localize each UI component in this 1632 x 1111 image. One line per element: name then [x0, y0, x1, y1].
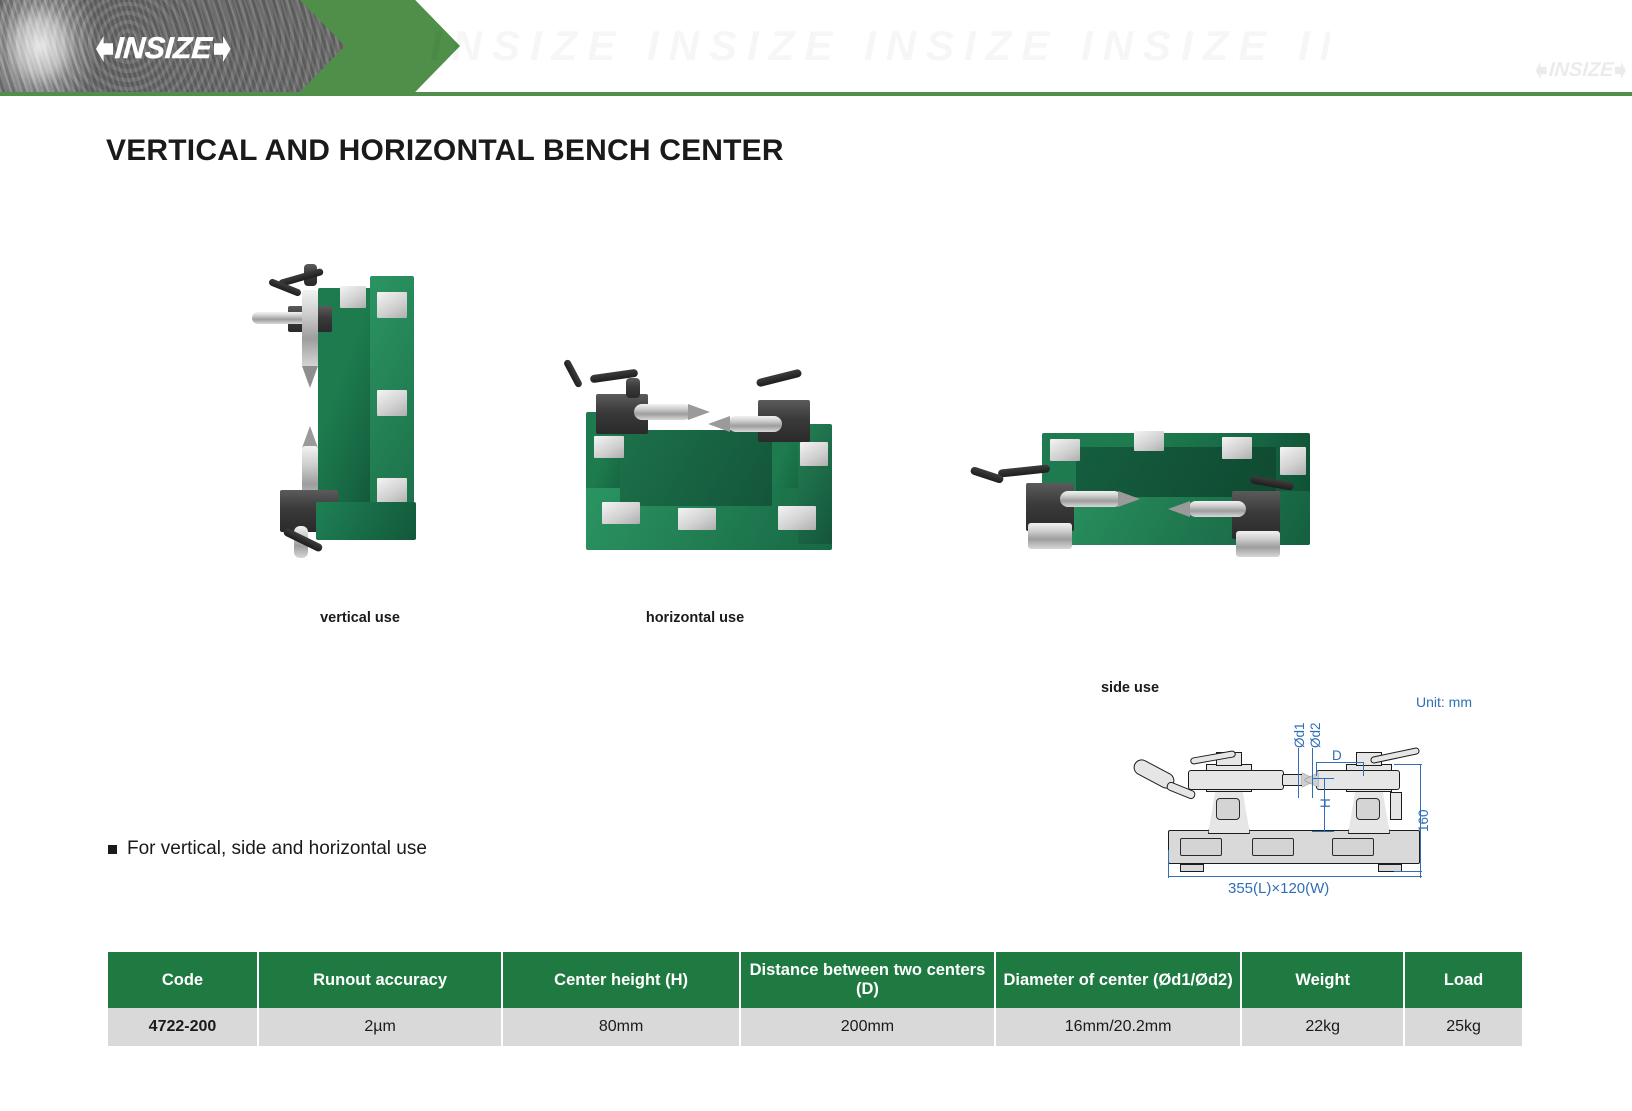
- product-photo-side: side use: [950, 395, 1310, 595]
- bullet-square-icon: [108, 845, 117, 854]
- cell-runout-accuracy: 2µm: [258, 1008, 502, 1046]
- page-title: VERTICAL AND HORIZONTAL BENCH CENTER: [106, 134, 784, 168]
- header-watermark-text: INSIZE INSIZE INSIZE INSIZE INSIZE INSIZ…: [430, 22, 1330, 74]
- insize-logo: INSIZE: [96, 36, 231, 62]
- column-header-runout: Runout accuracy: [258, 952, 502, 1008]
- dim-tick-footprint-left: [1168, 850, 1169, 878]
- drawing-base-slot-2: [1252, 838, 1294, 856]
- arrow-left-icon-faint: [1536, 62, 1547, 79]
- drawing-right-window: [1356, 798, 1380, 820]
- product-caption-horizontal: horizontal use: [530, 610, 860, 626]
- drawing-foot-left: [1180, 864, 1204, 872]
- table-row: 4722-200 2µm 80mm 200mm 16mm/20.2mm 22kg…: [108, 1008, 1522, 1046]
- right-lever: [756, 369, 803, 388]
- arrow-left-icon: [96, 36, 113, 62]
- inlay-face-s2: [1134, 431, 1164, 451]
- left-lever-loop: [563, 359, 583, 389]
- inlay-face-s3: [1222, 437, 1252, 459]
- dim-label-d: D: [1332, 748, 1342, 763]
- specification-table: Code Runout accuracy Center height (H) D…: [108, 952, 1522, 1046]
- drawing-right-side-tab: [1390, 792, 1402, 820]
- drawing-left-window: [1216, 798, 1240, 820]
- table-header-row: Code Runout accuracy Center height (H) D…: [108, 952, 1522, 1008]
- cell-diameter-of-center: 16mm/20.2mm: [995, 1008, 1241, 1046]
- side-left-lever-loop: [970, 466, 1005, 484]
- green-base: [316, 502, 416, 540]
- column-header-center-height: Center height (H): [502, 952, 740, 1008]
- dim-label-footprint: 355(L)×120(W): [1228, 880, 1329, 897]
- inlay-face-right: [800, 442, 828, 466]
- dim-tick-d-right: [1363, 762, 1364, 776]
- inlay-face-s1: [1050, 439, 1080, 461]
- cell-load: 25kg: [1404, 1008, 1522, 1046]
- product-photo-horizontal: horizontal use: [530, 360, 860, 590]
- left-center-point: [688, 404, 710, 420]
- inlay-face-low: [377, 478, 407, 504]
- column-header-weight: Weight: [1241, 952, 1404, 1008]
- feature-bullet-text: For vertical, side and horizontal use: [127, 838, 427, 860]
- insize-logo-text: INSIZE: [114, 36, 213, 62]
- dim-tick-d-left: [1316, 762, 1317, 776]
- inlay-face-left: [594, 436, 624, 458]
- column-header-code: Code: [108, 952, 258, 1008]
- inlay-face-bottom-1: [602, 502, 640, 524]
- upper-center-shaft: [302, 290, 318, 368]
- dim-tick-footprint-right: [1420, 850, 1421, 878]
- side-left-spindle: [1060, 491, 1122, 507]
- inlay-face-s4: [1280, 447, 1306, 475]
- dim-tick-h-top: [1312, 778, 1334, 779]
- dim-extension-d2: [1312, 748, 1313, 798]
- column-header-load: Load: [1404, 952, 1522, 1008]
- header-green-rule: [0, 92, 1632, 96]
- dim-label-d2: Ød2: [1308, 722, 1323, 748]
- dim-tick-h-bottom: [1312, 831, 1334, 832]
- dim-line-footprint: [1168, 876, 1422, 877]
- cell-code: 4722-200: [108, 1008, 258, 1046]
- cell-center-height: 80mm: [502, 1008, 740, 1046]
- drawing-left-quill: [1282, 774, 1304, 786]
- product-image-gallery: vertical use: [150, 240, 1400, 640]
- insize-logo-watermark: INSIZE: [1536, 62, 1626, 79]
- page-header: INSIZE INSIZE INSIZE INSIZE INSIZE INSIZ…: [0, 0, 1632, 96]
- dim-extension-d1: [1298, 748, 1299, 798]
- catalog-page: INSIZE INSIZE INSIZE INSIZE INSIZE INSIZ…: [0, 0, 1632, 1111]
- upper-center-point: [302, 366, 318, 388]
- green-inner-web: [620, 430, 772, 506]
- drawing-right-lever-arm: [1370, 747, 1420, 764]
- product-photo-vertical: vertical use: [260, 250, 460, 580]
- dim-label-h: H: [1318, 798, 1333, 808]
- inlay-face-corner: [340, 286, 366, 308]
- drawing-right-barrel: [1316, 770, 1400, 790]
- left-knob: [626, 378, 640, 398]
- drawing-left-barrel: [1188, 770, 1284, 790]
- drawing-base-slot-1: [1180, 838, 1222, 856]
- feature-bullet-item: For vertical, side and horizontal use: [108, 838, 427, 860]
- cell-distance-between-centers: 200mm: [740, 1008, 995, 1046]
- side-right-spindle: [1188, 501, 1246, 517]
- arrow-right-icon-faint: [1615, 62, 1626, 79]
- dim-label-d1: Ød1: [1292, 722, 1307, 748]
- column-header-distance: Distance between two centers (D): [740, 952, 995, 1008]
- inlay-face-bottom-2: [678, 508, 716, 530]
- side-left-point: [1118, 491, 1140, 507]
- product-caption-vertical: vertical use: [260, 610, 460, 626]
- insize-logo-watermark-text: INSIZE: [1548, 62, 1614, 79]
- dim-tick-height-bottom: [1394, 871, 1422, 872]
- side-right-point: [1168, 501, 1190, 517]
- inlay-face-bottom-3: [778, 506, 816, 530]
- dim-tick-height-top: [1394, 764, 1422, 765]
- side-left-foot: [1028, 523, 1072, 549]
- drawing-base-slot-3: [1332, 838, 1374, 856]
- dimension-drawing: Unit: mm Ød1 Ød2: [1060, 690, 1480, 905]
- dim-label-height: 160: [1416, 809, 1431, 832]
- inlay-face-mid: [377, 390, 407, 416]
- side-right-foot: [1236, 531, 1280, 557]
- arrow-right-icon: [214, 36, 231, 62]
- right-spindle: [728, 416, 782, 432]
- lower-center-point: [302, 426, 318, 448]
- drawing-unit-label: Unit: mm: [1416, 694, 1472, 710]
- column-header-diameter: Diameter of center (Ød1/Ød2): [995, 952, 1241, 1008]
- left-spindle: [634, 404, 692, 420]
- inlay-face-top: [377, 292, 407, 318]
- cell-weight: 22kg: [1241, 1008, 1404, 1046]
- right-center-point: [708, 416, 730, 432]
